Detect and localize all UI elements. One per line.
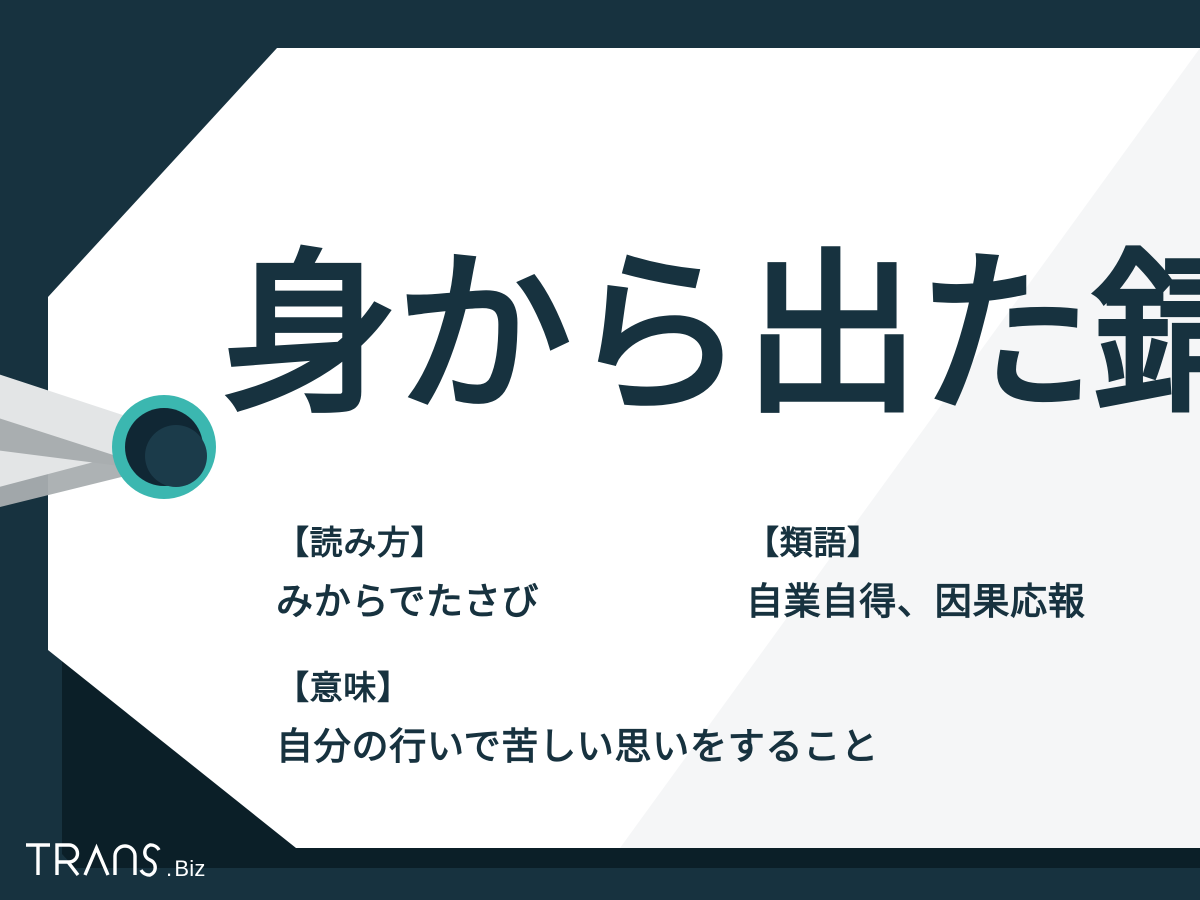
meaning-value: 自分の行いで苦しい思いをすること <box>276 728 879 765</box>
reading-label: 【読み方】 <box>276 526 539 559</box>
synonym-value: 自業自得、因果応報 <box>746 583 1086 620</box>
reading-value: みからでたさび <box>276 583 539 620</box>
logo-biz-text: Biz <box>174 858 205 882</box>
meaning-block: 【意味】 自分の行いで苦しい思いをすること <box>276 671 879 765</box>
reading-block: 【読み方】 みからでたさび <box>276 526 539 620</box>
grommet-hole <box>125 408 203 486</box>
logo-suffix: . <box>166 858 172 882</box>
meaning-label: 【意味】 <box>276 671 879 704</box>
trans-wordmark-icon <box>24 842 164 882</box>
grommet-hole-highlight <box>145 425 207 487</box>
brand-logo[interactable]: . Biz <box>24 840 206 882</box>
synonym-label: 【類語】 <box>746 526 1086 559</box>
slide-canvas: 身から出た錆 【読み方】 みからでたさび 【類語】 自業自得、因果応報 【意味】… <box>0 0 1200 900</box>
tag-grommet <box>112 395 216 499</box>
page-title: 身から出た錆 <box>222 248 1200 424</box>
synonym-block: 【類語】 自業自得、因果応報 <box>746 526 1086 620</box>
